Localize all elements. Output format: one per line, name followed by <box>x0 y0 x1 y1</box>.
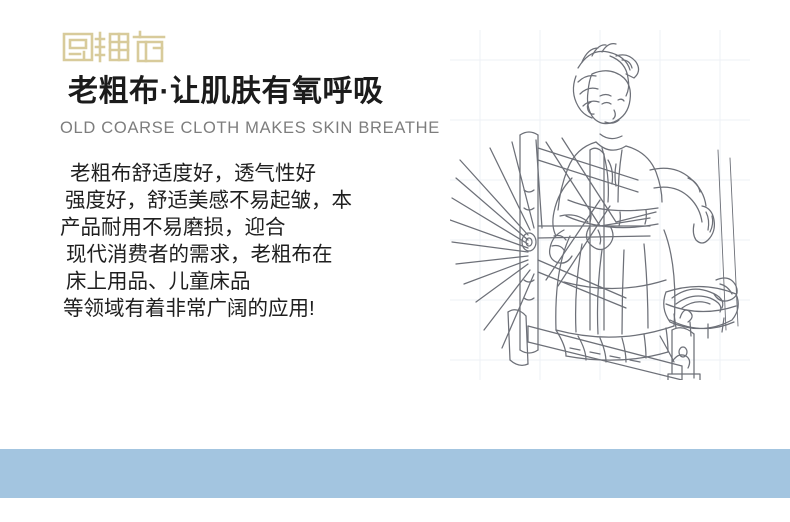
body-line: 老粗布舒适度好，透气性好 <box>0 160 440 187</box>
body-line: 强度好，舒适美感不易起皱，本 <box>0 187 440 214</box>
spinning-wheel-illustration <box>450 30 750 380</box>
body-line: 产品耐用不易磨损，迎合 <box>0 214 440 241</box>
body-line: 床上用品、儿童床品 <box>0 268 440 295</box>
laocubu-seal-logo <box>60 28 172 66</box>
body-line: 现代消费者的需求，老粗布在 <box>0 241 440 268</box>
background-grid <box>450 30 750 380</box>
brand-logo <box>60 28 172 66</box>
promo-banner: 老粗布·让肌肤有氧呼吸 OLD COARSE CLOTH MAKES SKIN … <box>0 0 790 522</box>
text-block: 老粗布·让肌肤有氧呼吸 OLD COARSE CLOTH MAKES SKIN … <box>0 72 440 322</box>
eye <box>602 103 611 105</box>
seated-woman <box>550 44 715 362</box>
woman-at-spinning-wheel-line-art <box>450 30 750 380</box>
page-subtitle: OLD COARSE CLOTH MAKES SKIN BREATHE <box>0 112 440 138</box>
eyebrow <box>600 95 611 97</box>
body-line: 等领域有着非常广阔的应用! <box>0 295 440 322</box>
page-title: 老粗布·让肌肤有氧呼吸 <box>0 72 440 112</box>
spinning-wheel <box>450 132 656 353</box>
bottom-color-bar <box>0 449 790 498</box>
body-copy: 老粗布舒适度好，透气性好 强度好，舒适美感不易起皱，本 产品耐用不易磨损，迎合 … <box>0 138 440 322</box>
